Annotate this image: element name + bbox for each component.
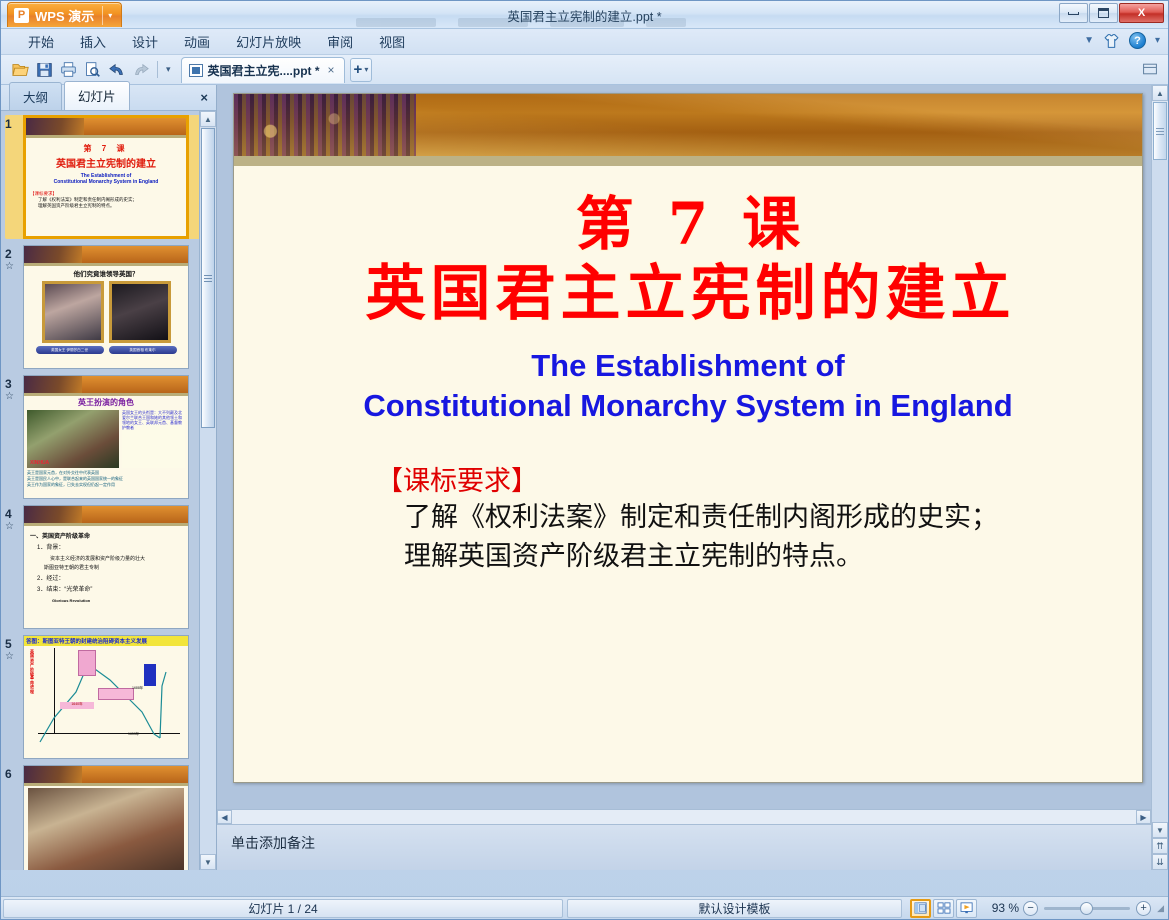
slide-header-band (234, 156, 1142, 166)
thumb-side-text: 英国女王的头衔是：大不列颠及北爱尔兰联合王国和她的其他领土和领地的女王、英联邦元… (122, 410, 185, 468)
slide-horizontal-scrollbar[interactable]: ◀ ▶ (217, 809, 1151, 824)
close-panel-icon[interactable]: × (200, 90, 208, 105)
slide-sorter-button[interactable] (933, 899, 954, 918)
zoom-slider[interactable] (1044, 907, 1130, 910)
slide-subtitle: The Establishment of Constitutional Mona… (264, 346, 1112, 425)
thumbnail-slide-2[interactable]: 2 ☆ 他们究竟谁领导英国？ 英国女王 伊丽莎白二世 英国首相 (5, 245, 216, 369)
current-slide[interactable]: 第7课 英国君主立宪制的建立 The Establishment of Cons… (233, 93, 1143, 783)
redo-icon[interactable] (129, 58, 152, 81)
title-bar: P WPS 演示 ▾ 英国君主立宪制的建立.ppt * X (1, 1, 1168, 29)
menu-item-design[interactable]: 设计 (119, 29, 171, 54)
toolbar-divider (157, 61, 158, 78)
thumb-banner (24, 766, 188, 783)
thumb-photo-parade: XINHUA (27, 410, 119, 468)
tab-outline[interactable]: 大纲 (9, 82, 62, 110)
design-template-label: 默认设计模板 (567, 899, 902, 918)
skin-shirt-icon[interactable] (1103, 33, 1120, 49)
thumbnail-preview: 英王扮演的角色 XINHUA 英国女王的头衔是：大不列颠及北爱尔兰联合王国和她的… (23, 375, 189, 499)
thumb-photo-queen (42, 281, 104, 343)
thumbnail-preview: 他们究竟谁领导英国？ 英国女王 伊丽莎白二世 英国首相 布莱尔 (23, 245, 189, 369)
thumbnail-preview: 第 7 课 英国君主立宪制的建立 The Establishment of Co… (23, 115, 189, 239)
thumb-item-2: 资本主义经济的发展和资产阶级力量的壮大 (30, 555, 182, 565)
slide-title-number: 7 (668, 190, 742, 258)
thumb-title-2: 英国君主立宪制的建立 (30, 155, 182, 170)
menu-item-view[interactable]: 视图 (366, 29, 418, 54)
thumb-item-1: 1．背景： (30, 543, 182, 554)
menu-item-animation[interactable]: 动画 (171, 29, 223, 54)
undo-icon[interactable] (105, 58, 128, 81)
print-preview-icon[interactable] (81, 58, 104, 81)
resize-grip-icon[interactable]: ◢ (1157, 903, 1164, 914)
slide-editor: 第7课 英国君主立宪制的建立 The Establishment of Cons… (217, 85, 1151, 870)
zoom-in-button[interactable]: + (1136, 901, 1151, 916)
slide-counter: 幻灯片 1 / 24 (3, 899, 563, 918)
slide-header-banner (234, 94, 1142, 156)
print-icon[interactable] (57, 58, 80, 81)
thumb-heading: 英王扮演的角色 (24, 397, 188, 408)
quick-access-toolbar: ▾ 英国君主立宪....ppt * × + ▾ (1, 55, 1168, 85)
animation-icon: ☆ (5, 521, 23, 533)
thumbnail-slide-1[interactable]: 1 第 7 课 英国君主立宪制的建立 The Establishment of … (5, 115, 216, 239)
thumb-bullet-3: 英王作为国家的象征，已失去实权但仍起一定作用 (27, 482, 185, 488)
slide-title-line-1: 第7课 (264, 192, 1112, 257)
previous-slide-button[interactable]: ⇈ (1152, 838, 1168, 854)
thumb-heading: 一、英国资产阶级革命 (30, 532, 182, 543)
thumb-chart-label-1688: 1688年 (132, 686, 143, 691)
menu-item-start[interactable]: 开始 (15, 29, 67, 54)
thumb-band (24, 393, 188, 396)
thumbnail-preview: 答图：斯图亚特王朝的封建统治阻碍资本主义发展 英国资产阶级革命进程 1640年 (23, 635, 189, 759)
menu-bar: 开始 插入 设计 动画 幻灯片放映 审阅 视图 ▼ ? ▾ (1, 29, 1168, 55)
thumb-chart-label-1653: 1653年 (128, 732, 139, 737)
slideshow-button[interactable] (956, 899, 977, 918)
workspace: 大纲 幻灯片 × 1 第 7 课 英国君主立宪制的建立 The Establis… (1, 85, 1168, 870)
normal-view-button[interactable] (910, 899, 931, 918)
scroll-up-icon[interactable]: ▲ (200, 111, 216, 127)
view-buttons (910, 899, 977, 918)
thumb-band (24, 263, 188, 266)
thumb-chart: 英国资产阶级革命进程 1640年 1688年 (24, 646, 188, 750)
slide-subtitle-line-2: Constitutional Monarchy System in Englan… (264, 386, 1112, 426)
maximize-icon (1098, 8, 1109, 18)
notes-pane[interactable]: 单击添加备注 (217, 824, 1151, 870)
thumb-item-4: 2．经过： (30, 574, 182, 585)
animation-icon: ☆ (5, 651, 23, 663)
requirement-line-2: 理解英国资产阶级君主立宪制的特点。 (376, 537, 1112, 576)
scroll-up-icon[interactable]: ▲ (1152, 85, 1168, 101)
scroll-right-icon[interactable]: ▶ (1136, 810, 1151, 824)
scrollbar-track[interactable] (1152, 160, 1168, 822)
slide-title-line-2: 英国君主立宪制的建立 (264, 257, 1112, 332)
close-button[interactable]: X (1119, 3, 1164, 23)
thumb-item-5: 3．结束：“光荣革命” (30, 585, 182, 596)
thumbnail-number: 1 (5, 115, 23, 239)
plus-icon: + (354, 61, 363, 78)
thumbnail-preview: 一、英国资产阶级革命 1．背景： 资本主义经济的发展和资产阶级力量的壮大 斯图亚… (23, 505, 189, 629)
thumb-req-2: 理解英国资产阶级君主立宪制的特点。 (30, 203, 182, 209)
requirement-heading: 【课标要求】 (376, 459, 1112, 498)
close-tab-icon[interactable]: × (325, 63, 338, 77)
thumbnail-slide-5[interactable]: 5 ☆ 答图：斯图亚特王朝的封建统治阻碍资本主义发展 英国资产阶级革命进程 (5, 635, 216, 759)
scroll-down-icon[interactable]: ▼ (1152, 822, 1168, 838)
thumb-banner (24, 506, 188, 523)
toolbar-right-icon[interactable] (1140, 59, 1160, 79)
menu-item-review[interactable]: 审阅 (314, 29, 366, 54)
document-tab[interactable]: 英国君主立宪....ppt * × (181, 57, 345, 83)
scrollbar-thumb[interactable] (201, 128, 215, 428)
parliament-photo (234, 94, 416, 156)
wps-presentation-window: P WPS 演示 ▾ 英国君主立宪制的建立.ppt * X 开始 插入 设计 动… (0, 0, 1169, 920)
status-bar: 幻灯片 1 / 24 默认设计模板 (1, 896, 1168, 919)
next-slide-button[interactable]: ⇊ (1152, 854, 1168, 870)
thumbnail-number: 4 ☆ (5, 505, 23, 629)
presentation-file-icon (189, 64, 203, 77)
thumb-item-3: 斯图亚特王朝的君主专制 (30, 564, 182, 574)
slide-subtitle-line-1: The Establishment of (264, 346, 1112, 386)
scroll-left-icon[interactable]: ◀ (217, 810, 232, 824)
slide-content: 第7课 英国君主立宪制的建立 The Establishment of Cons… (234, 166, 1142, 577)
thumb-caption-left: 英国女王 伊丽莎白二世 (36, 346, 104, 354)
sky-photo (416, 94, 1142, 156)
thumb-heading: 答图：斯图亚特王朝的封建统治阻碍资本主义发展 (24, 636, 188, 646)
thumb-heading: 他们究竟谁领导英国？ (24, 268, 188, 278)
thumb-chart-label-1640: 1640年 (60, 702, 94, 709)
notes-placeholder: 单击添加备注 (231, 835, 315, 851)
new-tab-caret-icon[interactable]: ▾ (364, 65, 368, 74)
scroll-down-icon[interactable]: ▼ (200, 854, 216, 870)
thumb-subtitle-2: Constitutional Monarchy System in Englan… (30, 179, 182, 185)
thumb-band (24, 783, 188, 786)
thumbnail-number: 5 ☆ (5, 635, 23, 759)
thumbnail-scrollbar[interactable]: ▲ ▼ (199, 111, 216, 870)
thumbnail-number: 6 (5, 765, 23, 870)
window-title: 英国君主立宪制的建立.ppt * (1, 6, 1168, 25)
thumb-item-6: Glorious Revolution (30, 597, 182, 605)
thumbnail-slide-3[interactable]: 3 ☆ 英王扮演的角色 XINHUA 英国女王的头衔是：大不列颠及北爱尔兰联合王… (5, 375, 216, 499)
thumb-photo-painting (28, 788, 184, 870)
zoom-slider-handle[interactable] (1080, 902, 1093, 915)
slide-title-lesson: 第 (576, 190, 668, 258)
slide-title-lesson-suffix: 课 (742, 190, 834, 258)
open-file-icon[interactable] (9, 58, 32, 81)
tab-slides[interactable]: 幻灯片 (64, 81, 130, 110)
thumb-banner (24, 376, 188, 393)
minimize-icon (1068, 12, 1079, 15)
thumbnail-number: 3 ☆ (5, 375, 23, 499)
help-icon[interactable]: ? (1129, 32, 1146, 49)
requirement-block: 【课标要求】 了解《权利法案》制定和责任制内阁形成的史实； 理解英国资产阶级君主… (264, 459, 1112, 576)
panel-tabs: 大纲 幻灯片 × (1, 85, 216, 111)
thumb-photo-blair (109, 281, 171, 343)
thumbnail-slide-4[interactable]: 4 ☆ 一、英国资产阶级革命 1．背景： 资本主义经济的发展和资产阶级力量的壮大… (5, 505, 216, 629)
thumbnail-number: 2 ☆ (5, 245, 23, 369)
thumbnail-slide-6[interactable]: 6 (5, 765, 216, 870)
scrollbar-track[interactable] (200, 428, 216, 854)
animation-icon: ☆ (5, 261, 23, 273)
slide-canvas[interactable]: 第7课 英国君主立宪制的建立 The Establishment of Cons… (217, 85, 1151, 809)
menu-item-insert[interactable]: 插入 (67, 29, 119, 54)
thumbnail-preview (23, 765, 189, 870)
help-dropdown-icon[interactable]: ▾ (1155, 35, 1160, 46)
slide-vertical-scrollbar[interactable]: ▲ ▼ ⇈ ⇊ (1151, 85, 1168, 870)
thumb-title-1: 第 7 课 (30, 143, 182, 154)
window-controls: X (1059, 3, 1164, 23)
menu-bar-right-controls: ▼ ? ▾ (1084, 32, 1160, 49)
requirement-line-1: 了解《权利法案》制定和责任制内阁形成的史实； (376, 498, 1112, 537)
thumbnail-list[interactable]: 1 第 7 课 英国君主立宪制的建立 The Establishment of … (1, 111, 216, 870)
zoom-out-button[interactable]: − (1023, 901, 1038, 916)
scrollbar-thumb[interactable] (1153, 102, 1167, 160)
chevron-down-icon[interactable]: ▼ (1084, 35, 1094, 46)
zoom-level: 93 % (977, 901, 1023, 915)
document-tab-label: 英国君主立宪....ppt * (208, 62, 320, 79)
thumb-caption-right: 英国首相 布莱尔 (109, 346, 177, 354)
new-tab-button[interactable]: + ▾ (350, 58, 373, 82)
thumb-banner (24, 246, 188, 263)
save-icon[interactable] (33, 58, 56, 81)
toolbar-overflow-icon[interactable]: ▾ (163, 64, 174, 75)
slides-panel: 大纲 幻灯片 × 1 第 7 课 英国君主立宪制的建立 The Establis… (1, 85, 217, 870)
animation-icon: ☆ (5, 391, 23, 403)
minimize-button[interactable] (1059, 3, 1088, 23)
maximize-button[interactable] (1089, 3, 1118, 23)
thumb-banner (26, 118, 186, 135)
menu-item-slideshow[interactable]: 幻灯片放映 (223, 29, 314, 54)
